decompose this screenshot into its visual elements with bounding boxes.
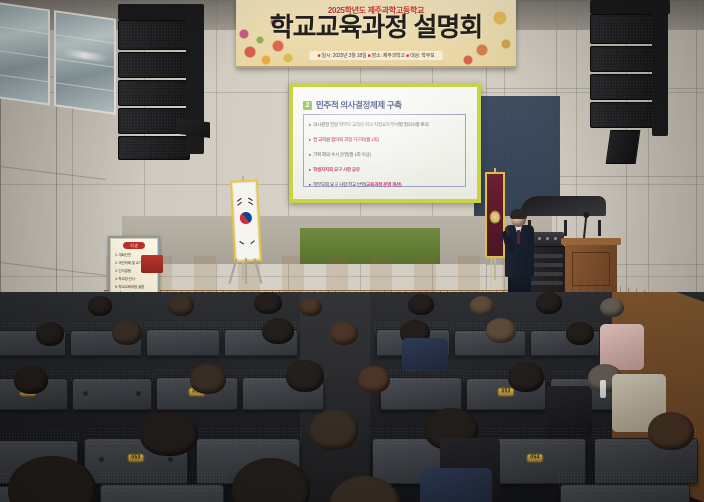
program-board-caption: 식 순	[123, 242, 145, 249]
backpack	[402, 338, 448, 372]
window-pane-right	[54, 10, 116, 115]
slide-title: 민주적 의사결정체제 구축	[316, 99, 402, 111]
backpack	[420, 468, 492, 502]
audience-head	[486, 318, 516, 343]
audience-head	[470, 296, 494, 316]
audience-head	[286, 360, 324, 392]
line-array-speaker-left	[118, 4, 204, 164]
audience-head	[112, 320, 142, 345]
seat[interactable]: 054	[560, 484, 690, 502]
program-item-4: 4. 학교장 인사	[115, 277, 154, 282]
audience-head	[300, 298, 322, 316]
banner-bullet-1: ■	[318, 53, 321, 59]
banner-target-value: 학부모	[421, 53, 434, 59]
banner-detail-line: ■ 일시: 2025년 3월 18일 ■ 장소: 제주과학고 ■ 대상: 학부모	[310, 51, 443, 60]
presenter-tie	[517, 230, 520, 244]
seat-cushion	[70, 370, 154, 383]
audience-head	[536, 292, 562, 314]
slide-bullet-1: ▸의사결정 전달 학부모 교직원 회의 지정요가 부서별 협의사항 토의	[309, 122, 461, 128]
slide-bullet-4: ▸학생자치회 요구 사항 공유	[309, 167, 461, 173]
slide-content-box: ▸의사결정 전달 학부모 교직원 회의 지정요가 부서별 협의사항 토의 ▸전 …	[303, 114, 466, 187]
audience-head	[14, 366, 48, 394]
audience-head	[88, 296, 112, 316]
red-amplifier-case	[141, 255, 163, 273]
audience-head	[254, 292, 282, 314]
flag-tripod-stand-left	[230, 258, 260, 284]
slide-bullet-5: ▸학부모회 요구 사항 학교 반영(교육과정 운영 개선)	[309, 182, 461, 188]
presenter-hair	[510, 209, 527, 219]
banner-date-value: 2025년 3월 18일	[333, 53, 367, 59]
banner-place-value: 제주과학고	[383, 53, 405, 59]
korean-national-flag	[228, 176, 262, 284]
audience-head	[36, 322, 64, 346]
audience-head	[190, 364, 226, 394]
seat-cushion	[558, 471, 692, 491]
banner-date-label: 일시	[322, 53, 331, 59]
presenter	[503, 210, 537, 292]
seat-number-plate: 053	[497, 388, 514, 397]
seat-cushion	[0, 429, 80, 446]
audience-head	[140, 412, 198, 456]
slide-bullet-2: ▸전 교직원 협의회 과정 기구화(월 1회)	[309, 137, 461, 143]
audience-head	[408, 294, 434, 315]
banner-place-label: 장소	[372, 53, 381, 59]
audience-seating-area: 053 053 053	[0, 292, 704, 502]
audience-head	[310, 410, 358, 450]
seat-number-plate: 054	[526, 454, 543, 463]
projection-screen: 2 민주적 의사결정체제 구축 ▸의사결정 전달 학부모 교직원 회의 지정요가…	[289, 83, 481, 203]
flag-gold-fringe	[230, 179, 262, 262]
seat-cushion	[98, 471, 226, 491]
seat-cushion	[378, 369, 464, 382]
seat[interactable]	[146, 329, 220, 356]
slide-section-number: 2	[303, 101, 312, 110]
audience-head	[358, 366, 390, 393]
presenter-legs	[508, 274, 531, 294]
event-banner: 2025학년도 제주과학고등학교 학교교육과정 설명회 ■ 일시: 2025년 …	[236, 0, 516, 68]
slide-heading: 2 민주적 의사결정체제 구축	[303, 99, 467, 111]
audience-head	[508, 362, 544, 392]
seat-cushion	[144, 321, 222, 334]
window-pane-left	[0, 2, 50, 106]
seat[interactable]	[100, 484, 224, 502]
audience-head	[600, 298, 624, 317]
seat-cushion	[194, 427, 302, 444]
seat[interactable]	[72, 378, 152, 410]
projected-slide: 2 민주적 의사결정체제 구축 ▸의사결정 전달 학부모 교직원 회의 지정요가…	[293, 87, 477, 199]
slide-bullet-3: ▸기획 회의 수시 운영(월 1회 이상)	[309, 152, 461, 158]
school-flag-cloth	[485, 172, 505, 258]
banner-main-title: 학교교육과정 설명회	[236, 12, 516, 42]
program-item-5: 5. 학교교육과정 설명	[115, 285, 154, 290]
school-emblem	[490, 210, 501, 223]
banner-bullet-3: ■	[406, 53, 409, 59]
audience-head	[648, 412, 694, 450]
banner-bullet-2: ■	[368, 53, 371, 59]
audience-head	[330, 322, 358, 345]
water-bottle	[600, 380, 606, 398]
banner-target-label: 대상	[410, 53, 419, 59]
audience-head	[566, 322, 594, 345]
seat[interactable]	[380, 377, 462, 410]
seat-number-plate: 053	[127, 454, 144, 463]
flag-tassel	[491, 256, 492, 286]
podium-top	[561, 238, 621, 245]
audience-head	[262, 318, 294, 344]
audience-head	[168, 294, 194, 316]
auditorium-scene: 2025학년도 제주과학고등학교 학교교육과정 설명회 ■ 일시: 2025년 …	[0, 0, 704, 502]
line-array-speaker-right	[590, 0, 670, 150]
